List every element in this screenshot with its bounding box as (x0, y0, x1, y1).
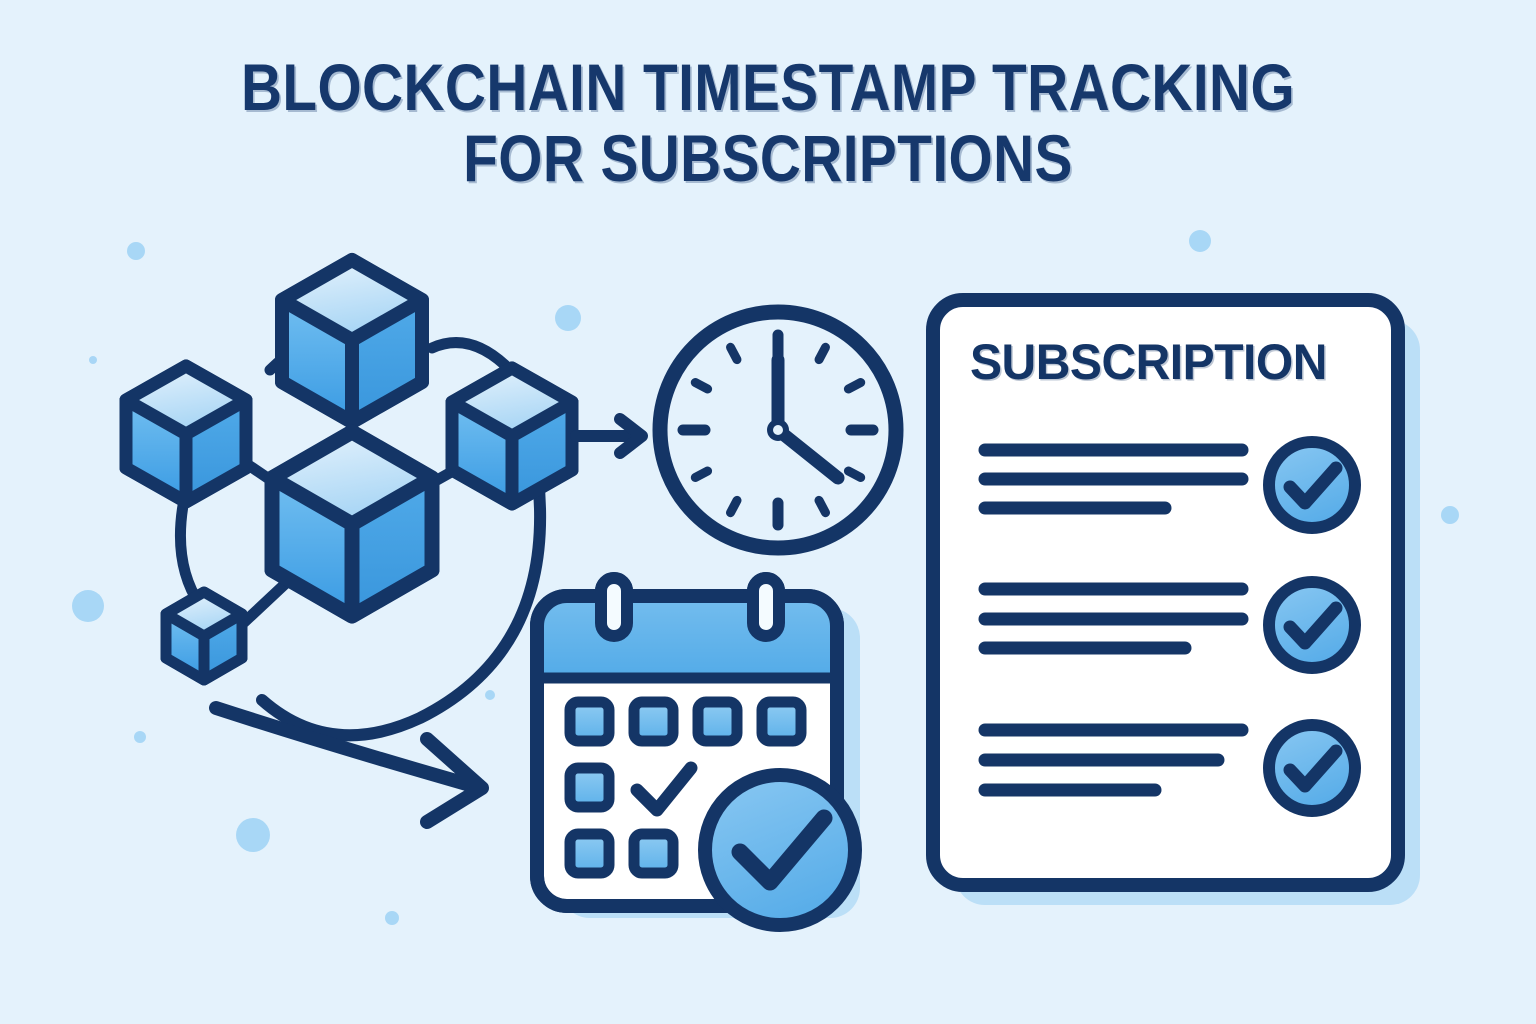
document-check-badge-icon (1269, 582, 1355, 668)
calendar-header (537, 596, 837, 678)
subscription-calendar (537, 578, 860, 925)
document-heading: SUBSCRIPTION (970, 333, 1383, 391)
node-small (166, 592, 242, 680)
timestamp-clock (660, 312, 896, 548)
node-left (126, 366, 246, 502)
document-check-badge-icon (1269, 725, 1355, 811)
illustration-layer (0, 0, 1536, 1024)
calendar-check-badge-icon (705, 775, 855, 925)
node-center (272, 432, 432, 616)
document-check-badge-icon (1269, 442, 1355, 528)
infographic-canvas: BLOCKCHAIN TIMESTAMP TRACKING FOR SUBSCR… (0, 0, 1536, 1024)
node-top (282, 260, 422, 422)
node-right (452, 368, 572, 504)
